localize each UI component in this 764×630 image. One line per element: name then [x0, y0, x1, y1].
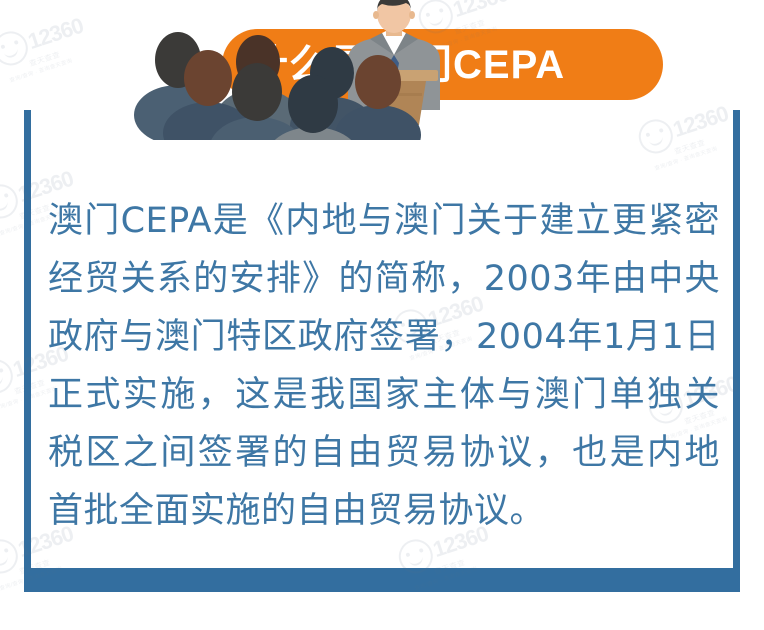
- watermark-ring-icon: [634, 115, 677, 158]
- body-paragraph: 澳门CEPA是《内地与澳门关于建立更紧密经贸关系的安排》的简称，2003年由中央…: [48, 192, 720, 540]
- watermark: 12360 查天查查 查询/查询 · 查询查天查询: [634, 97, 737, 174]
- watermark-ring-icon: [0, 535, 22, 578]
- frame-bottom-bar: [24, 568, 740, 592]
- watermark-ring-icon: [0, 355, 17, 398]
- frame-right-border: [733, 110, 740, 592]
- frame-left-border: [24, 110, 31, 592]
- watermark-ring-icon: [0, 180, 22, 223]
- speaker-audience-illustration: [60, 0, 460, 140]
- infographic-card: 12360 查天查查 查询/查询 · 查询查天查询 12360 查天查查 查询/…: [0, 0, 764, 630]
- watermark-ring-icon: [0, 27, 32, 70]
